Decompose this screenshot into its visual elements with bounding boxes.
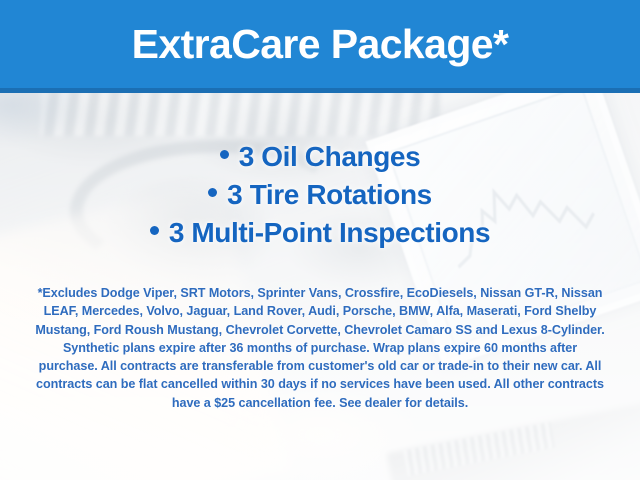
disclaimer-text: *Excludes Dodge Viper, SRT Motors, Sprin… [32,284,608,412]
header-banner: ExtraCare Package* [0,0,640,88]
list-item: 3 Multi-Point Inspections [0,214,640,252]
list-item-label: 3 Oil Changes [239,141,421,172]
list-item-label: 3 Multi-Point Inspections [169,217,490,248]
bullet-dot-icon [208,188,217,197]
extracare-package-promo: ExtraCare Package* 3 Oil Changes 3 Tire … [0,0,640,480]
page-title: ExtraCare Package* [132,24,509,65]
banner-bottom-rule [0,88,640,93]
bullet-dot-icon [220,150,229,159]
bullet-dot-icon [150,226,159,235]
list-item: 3 Tire Rotations [0,176,640,214]
list-item: 3 Oil Changes [0,138,640,176]
offer-bullet-list: 3 Oil Changes 3 Tire Rotations 3 Multi-P… [0,138,640,252]
list-item-label: 3 Tire Rotations [227,179,432,210]
